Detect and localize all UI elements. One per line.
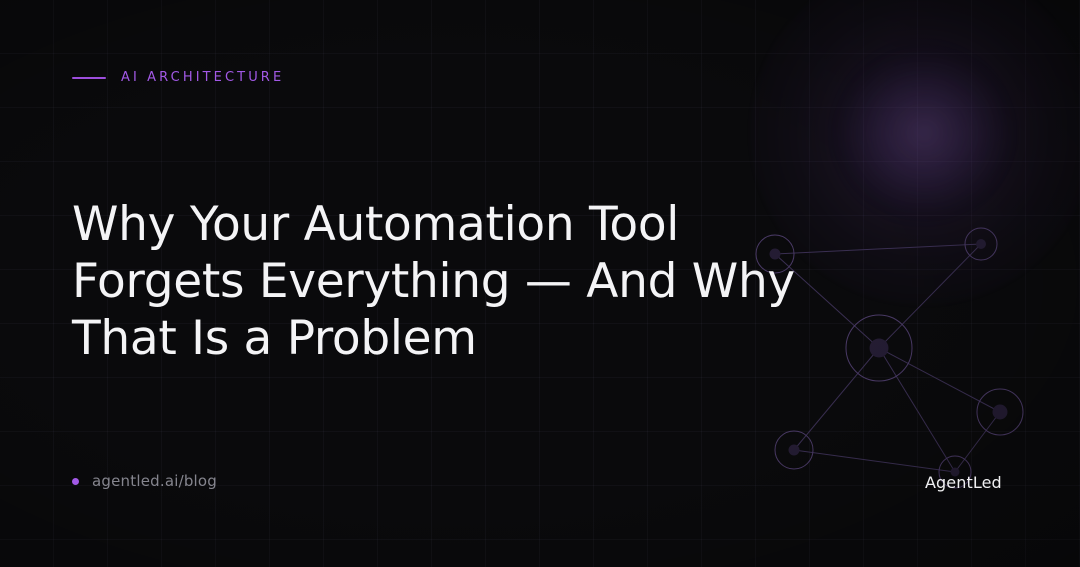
title-line-2: Forgets Everything — And Why [72,253,712,310]
network-edges [775,244,1000,472]
network-edge [794,348,879,450]
title-line-3: That Is a Problem [72,310,712,367]
network-edge [775,244,981,254]
page-title: Why Your Automation Tool Forgets Everyth… [72,196,712,367]
network-edge [955,412,1000,472]
purple-glow-orb [750,0,1080,305]
eyebrow: AI ARCHITECTURE [72,70,284,85]
network-edge [879,348,1000,412]
brand-name: AgentLed [925,473,1002,492]
network-node [870,339,889,358]
network-edge [794,450,955,472]
purple-glow-core [845,58,1005,208]
dot-icon [72,478,79,485]
network-nodes [756,228,1023,488]
network-node [976,239,986,249]
network-edge [879,244,981,348]
site-url-label: agentled.ai/blog [92,472,217,490]
network-node-ring [775,431,813,469]
network-node [789,445,800,456]
network-node-ring [846,315,912,381]
network-node [993,405,1008,420]
eyebrow-label: AI ARCHITECTURE [121,70,284,85]
site-url[interactable]: agentled.ai/blog [72,472,217,490]
network-edge [879,348,955,472]
title-line-1: Why Your Automation Tool [72,196,712,253]
horizontal-rule-icon [72,77,106,79]
network-node-ring [965,228,997,260]
network-node-ring [977,389,1023,435]
blog-share-card: AI ARCHITECTURE Why Your Automation Tool… [0,0,1080,567]
